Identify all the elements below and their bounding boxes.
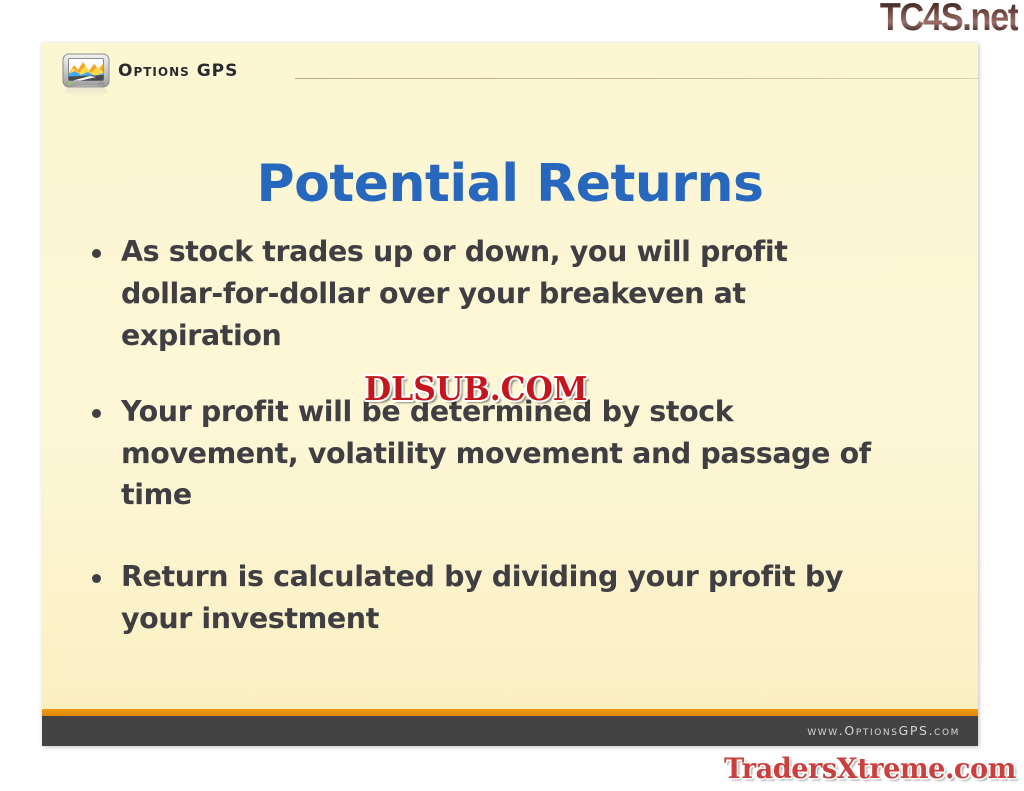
logo-text: Options GPS bbox=[118, 61, 238, 81]
bullet-dot-icon bbox=[92, 574, 101, 583]
page-title: Potential Returns bbox=[42, 154, 978, 214]
bullet-dot-icon bbox=[92, 249, 101, 258]
list-item: As stock trades up or down, you will pro… bbox=[92, 231, 942, 357]
tradersxtreme-watermark: TradersXtreme.com bbox=[724, 752, 1016, 785]
footer-bar: www.OptionsGPS.com bbox=[42, 716, 978, 746]
slide: Options GPS Potential Returns As stock t… bbox=[42, 43, 978, 746]
header-divider bbox=[295, 78, 978, 79]
footer-accent-bar bbox=[42, 709, 978, 716]
tc4s-watermark: TC4S.net bbox=[880, 0, 1018, 37]
list-item: Your profit will be determined by stock … bbox=[92, 391, 942, 517]
dlsub-watermark: DLSUB.COM bbox=[364, 369, 588, 408]
gps-device-icon bbox=[60, 52, 114, 100]
bullet-text: Return is calculated by dividing your pr… bbox=[121, 556, 861, 640]
list-item: Return is calculated by dividing your pr… bbox=[92, 556, 942, 640]
bullet-dot-icon bbox=[92, 409, 101, 418]
bullet-text: As stock trades up or down, you will pro… bbox=[121, 231, 861, 357]
bullet-text: Your profit will be determined by stock … bbox=[121, 391, 911, 517]
bullet-list: As stock trades up or down, you will pro… bbox=[92, 231, 942, 674]
slide-header: Options GPS bbox=[42, 43, 978, 101]
footer-url: www.OptionsGPS.com bbox=[807, 723, 960, 738]
